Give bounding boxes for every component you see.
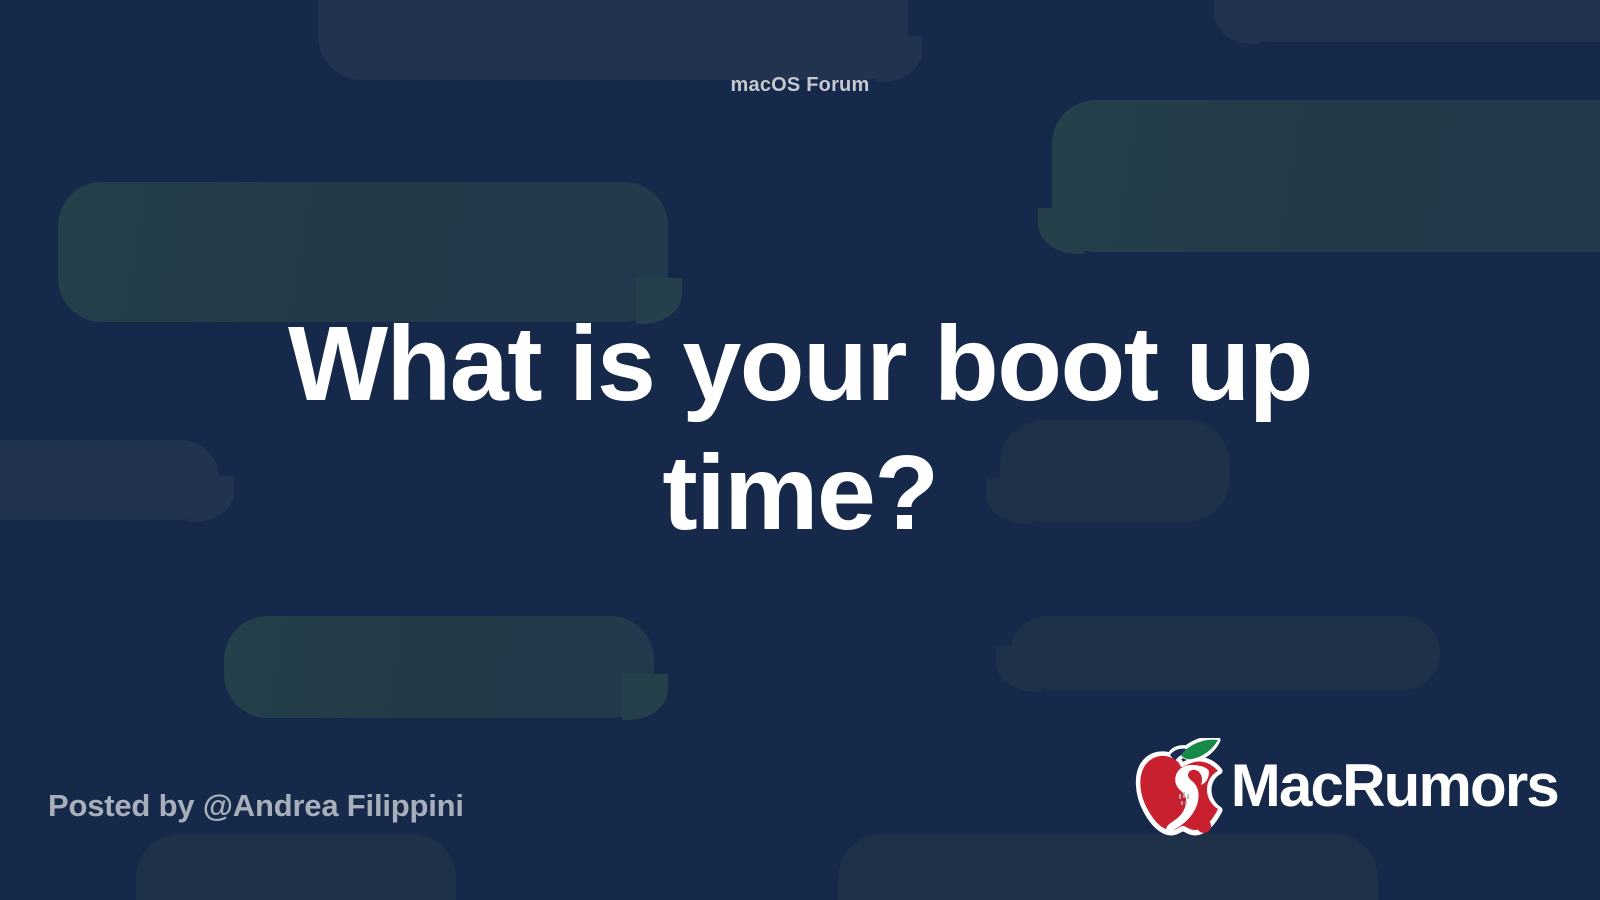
bubble-tail-icon <box>622 674 668 720</box>
bubble-mid-left-navy <box>0 440 220 520</box>
byline: Posted by @Andrea Filippini <box>48 788 464 824</box>
bubble-top-right-navy <box>1228 0 1600 42</box>
page-title: What is your boot up time? <box>210 300 1390 559</box>
headline-container: What is your boot up time? <box>210 300 1390 559</box>
bubble-bottom-left-navy <box>136 834 456 900</box>
bubble-lower-right-navy <box>1010 616 1440 690</box>
bubble-tail-icon <box>1038 208 1084 254</box>
bubble-upper-right-teal <box>1052 100 1600 252</box>
bubble-top-left-navy <box>318 0 908 80</box>
macrumors-apple-icon <box>1135 738 1227 838</box>
bubble-bottom-right-navy <box>838 834 1378 900</box>
macrumors-social-card: macOS Forum What is your boot up time? P… <box>0 0 1600 900</box>
bubble-lower-left-teal <box>224 616 654 718</box>
apple-question-dot-icon <box>1197 819 1211 833</box>
bubble-tail-icon <box>1214 0 1260 44</box>
macrumors-logo: MacRumors <box>1135 738 1558 838</box>
brand-wordmark: MacRumors <box>1231 756 1558 820</box>
bubble-tail-icon <box>996 646 1042 692</box>
forum-label: macOS Forum <box>0 74 1600 97</box>
